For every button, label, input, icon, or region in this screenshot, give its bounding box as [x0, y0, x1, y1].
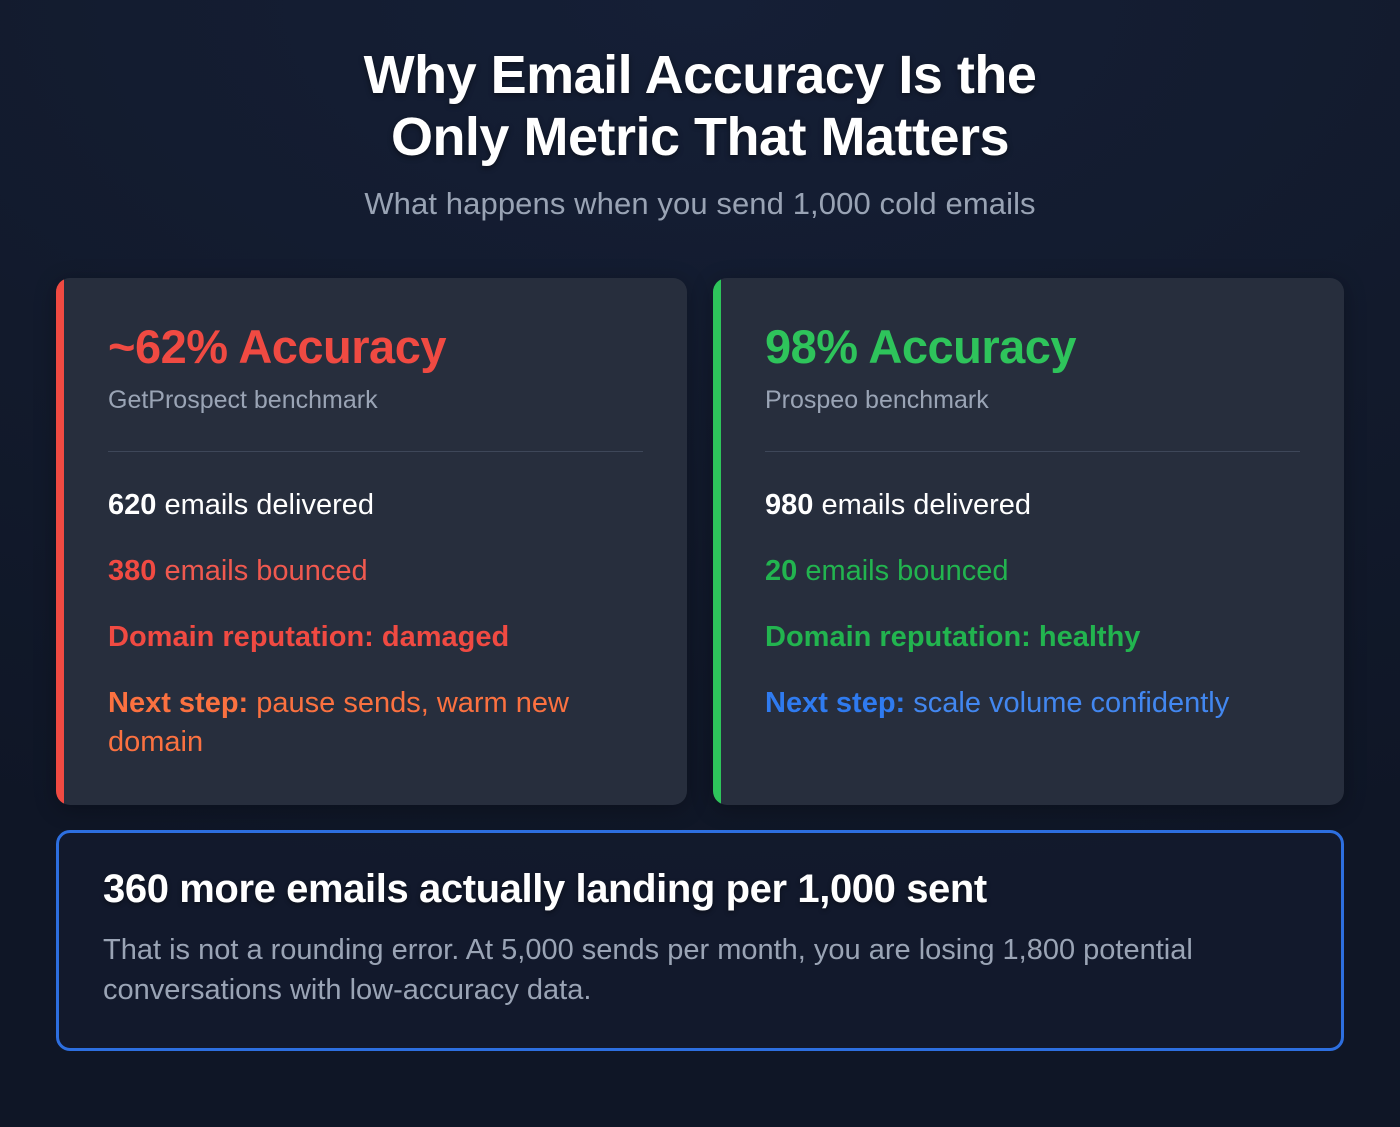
- stat-next-step-label: Next step:: [765, 687, 905, 719]
- card-stats-list: 620 emails delivered 380 emails bounced …: [108, 486, 643, 761]
- page-title: Why Email Accuracy Is the Only Metric Th…: [56, 44, 1344, 168]
- summary-body-text: That is not a rounding error. At 5,000 s…: [103, 930, 1297, 1010]
- stat-next-step: Next step: pause sends, warm new domain: [108, 684, 643, 761]
- stat-bounced-value: 380: [108, 555, 156, 587]
- stat-delivered-label: emails delivered: [813, 489, 1031, 521]
- card-accent-bar-red: [56, 278, 64, 805]
- card-heading-accuracy: 98% Accuracy: [765, 322, 1300, 371]
- card-subtitle-benchmark: Prospeo benchmark: [765, 386, 1300, 415]
- stat-bounced-label: emails bounced: [797, 555, 1008, 587]
- card-heading-accuracy: ~62% Accuracy: [108, 322, 643, 371]
- page-title-line-2: Only Metric That Matters: [391, 107, 1009, 167]
- summary-callout-box: 360 more emails actually landing per 1,0…: [56, 830, 1344, 1051]
- card-prospeo: 98% Accuracy Prospeo benchmark 980 email…: [713, 278, 1344, 805]
- stat-domain-reputation-text: Domain reputation: healthy: [765, 621, 1140, 653]
- stat-domain-reputation: Domain reputation: damaged: [108, 618, 643, 656]
- stat-delivered: 980 emails delivered: [765, 486, 1300, 524]
- stat-domain-reputation: Domain reputation: healthy: [765, 618, 1300, 656]
- stat-next-step-label: Next step:: [108, 687, 248, 719]
- stat-bounced-label: emails bounced: [156, 555, 367, 587]
- stat-delivered-label: emails delivered: [156, 489, 374, 521]
- stat-bounced-value: 20: [765, 555, 797, 587]
- stat-delivered: 620 emails delivered: [108, 486, 643, 524]
- page-subtitle: What happens when you send 1,000 cold em…: [56, 186, 1344, 222]
- card-stats-list: 980 emails delivered 20 emails bounced D…: [765, 486, 1300, 723]
- stat-bounced: 380 emails bounced: [108, 552, 643, 590]
- stat-delivered-value: 980: [765, 489, 813, 521]
- card-divider: [765, 451, 1300, 452]
- stat-domain-reputation-text: Domain reputation: damaged: [108, 621, 509, 653]
- page-title-line-1: Why Email Accuracy Is the: [364, 45, 1037, 105]
- comparison-cards: ~62% Accuracy GetProspect benchmark 620 …: [56, 278, 1344, 805]
- summary-headline: 360 more emails actually landing per 1,0…: [103, 867, 1297, 912]
- infographic-page: Why Email Accuracy Is the Only Metric Th…: [0, 0, 1400, 1127]
- card-accent-bar-green: [713, 278, 721, 805]
- stat-next-step-text: scale volume confidently: [905, 687, 1229, 719]
- stat-bounced: 20 emails bounced: [765, 552, 1300, 590]
- card-subtitle-benchmark: GetProspect benchmark: [108, 386, 643, 415]
- card-getprospect: ~62% Accuracy GetProspect benchmark 620 …: [56, 278, 687, 805]
- card-divider: [108, 451, 643, 452]
- stat-next-step: Next step: scale volume confidently: [765, 684, 1300, 722]
- stat-delivered-value: 620: [108, 489, 156, 521]
- header: Why Email Accuracy Is the Only Metric Th…: [56, 0, 1344, 222]
